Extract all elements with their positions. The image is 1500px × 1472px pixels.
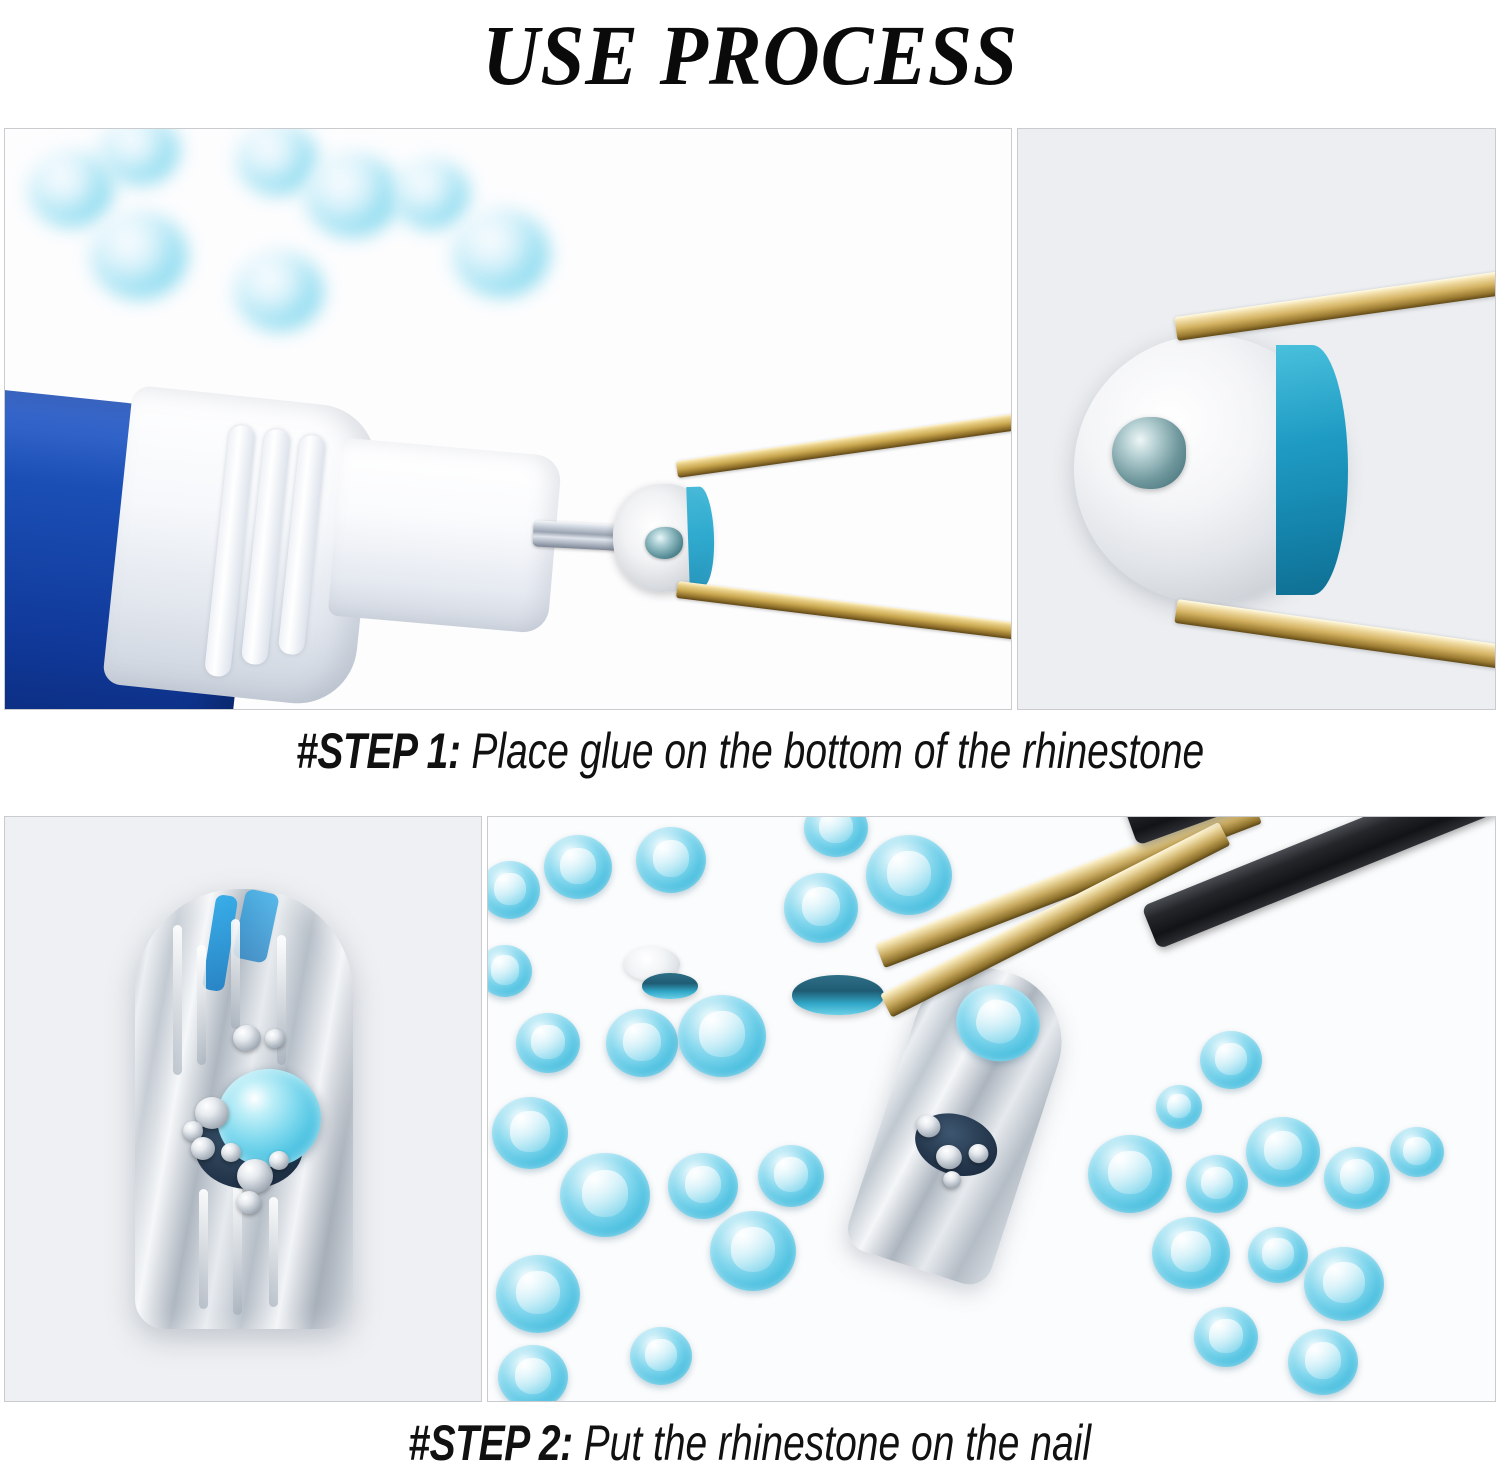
loose-rhinestone xyxy=(630,1327,692,1385)
metal-bead xyxy=(221,1143,241,1162)
tweezer-arm-upper xyxy=(1174,259,1496,341)
chrome-drip xyxy=(197,945,206,1065)
loose-rhinestone xyxy=(1088,1135,1172,1213)
loose-rhinestone xyxy=(606,1009,678,1077)
bokeh-rhinestone xyxy=(393,159,469,229)
loose-rhinestone xyxy=(636,827,706,893)
loose-rhinestone xyxy=(496,1255,580,1333)
loose-rhinestone xyxy=(1304,1247,1384,1321)
rhinestone-tilted xyxy=(792,975,884,1015)
glue-drop xyxy=(645,527,683,559)
step-1-image-row xyxy=(4,128,1496,710)
tweezer-arm-lower xyxy=(676,581,1012,647)
loose-rhinestone xyxy=(1186,1155,1248,1213)
loose-rhinestone xyxy=(1194,1307,1258,1367)
bokeh-rhinestone xyxy=(235,251,323,331)
metal-bead xyxy=(237,1191,261,1214)
glue-drop xyxy=(1112,417,1186,489)
step-2-caption: #STEP 2: Put the rhinestone on the nail xyxy=(0,1414,1500,1472)
step-2-text: Put the rhinestone on the nail xyxy=(573,1415,1091,1471)
chrome-drip xyxy=(269,1197,278,1307)
loose-rhinestone xyxy=(516,1013,580,1073)
loose-rhinestone xyxy=(866,835,952,915)
loose-rhinestone xyxy=(1152,1217,1230,1289)
loose-rhinestone xyxy=(487,945,532,997)
metal-bead xyxy=(269,1151,289,1170)
rhinestone-closeup-photo xyxy=(1017,128,1496,710)
loose-rhinestone xyxy=(1390,1127,1444,1177)
rhinestone-flat-back xyxy=(1074,335,1342,603)
page-title: USE PROCESS xyxy=(482,5,1018,105)
bokeh-rhinestone xyxy=(305,153,399,237)
metal-bead xyxy=(233,1025,261,1051)
placing-rhinestone-photo xyxy=(487,816,1496,1402)
loose-rhinestone xyxy=(1156,1085,1202,1129)
chrome-drip xyxy=(199,1189,208,1309)
step-1-text: Place glue on the bottom of the rhinesto… xyxy=(460,723,1204,779)
bokeh-rhinestone xyxy=(237,128,317,195)
loose-rhinestone xyxy=(492,1097,568,1169)
loose-rhinestone xyxy=(560,1153,650,1237)
loose-rhinestone xyxy=(758,1145,824,1207)
loose-rhinestone xyxy=(710,1211,796,1291)
step-1-label: #STEP 1: xyxy=(296,723,461,779)
press-on-nail xyxy=(135,889,353,1329)
loose-rhinestone xyxy=(1248,1227,1308,1283)
metal-bead xyxy=(265,1029,285,1048)
loose-rhinestone xyxy=(498,1345,568,1402)
loose-rhinestone xyxy=(1246,1117,1320,1187)
rhinestone-tilted xyxy=(642,973,698,999)
metal-bead xyxy=(191,1137,215,1160)
chrome-drip xyxy=(173,925,182,1075)
step-2-label: #STEP 2: xyxy=(409,1415,574,1471)
loose-rhinestone xyxy=(544,835,612,899)
glue-tube-neck xyxy=(328,438,563,634)
loose-rhinestone xyxy=(784,873,858,943)
step-1-caption: #STEP 1: Place glue on the bottom of the… xyxy=(0,722,1500,780)
step-2-image-row xyxy=(4,816,1496,1402)
tweezer-arm-lower xyxy=(1174,599,1496,681)
page-header: USE PROCESS xyxy=(0,0,1500,110)
loose-rhinestone xyxy=(1288,1329,1358,1395)
loose-rhinestone xyxy=(1200,1031,1262,1089)
tweezer-arm-upper xyxy=(676,405,1012,478)
metal-bead xyxy=(237,1159,273,1193)
glue-application-photo xyxy=(4,128,1012,710)
bokeh-rhinestone xyxy=(29,151,113,227)
bokeh-rhinestone xyxy=(91,211,187,299)
finished-nail-photo xyxy=(4,816,482,1402)
loose-rhinestone xyxy=(1324,1147,1390,1209)
loose-rhinestone xyxy=(668,1153,738,1219)
chrome-drip xyxy=(231,919,240,1029)
bokeh-rhinestone xyxy=(453,209,549,297)
loose-rhinestone xyxy=(804,816,868,857)
bokeh-rhinestone xyxy=(101,128,179,185)
loose-rhinestone xyxy=(487,861,540,919)
loose-rhinestone xyxy=(678,995,766,1077)
